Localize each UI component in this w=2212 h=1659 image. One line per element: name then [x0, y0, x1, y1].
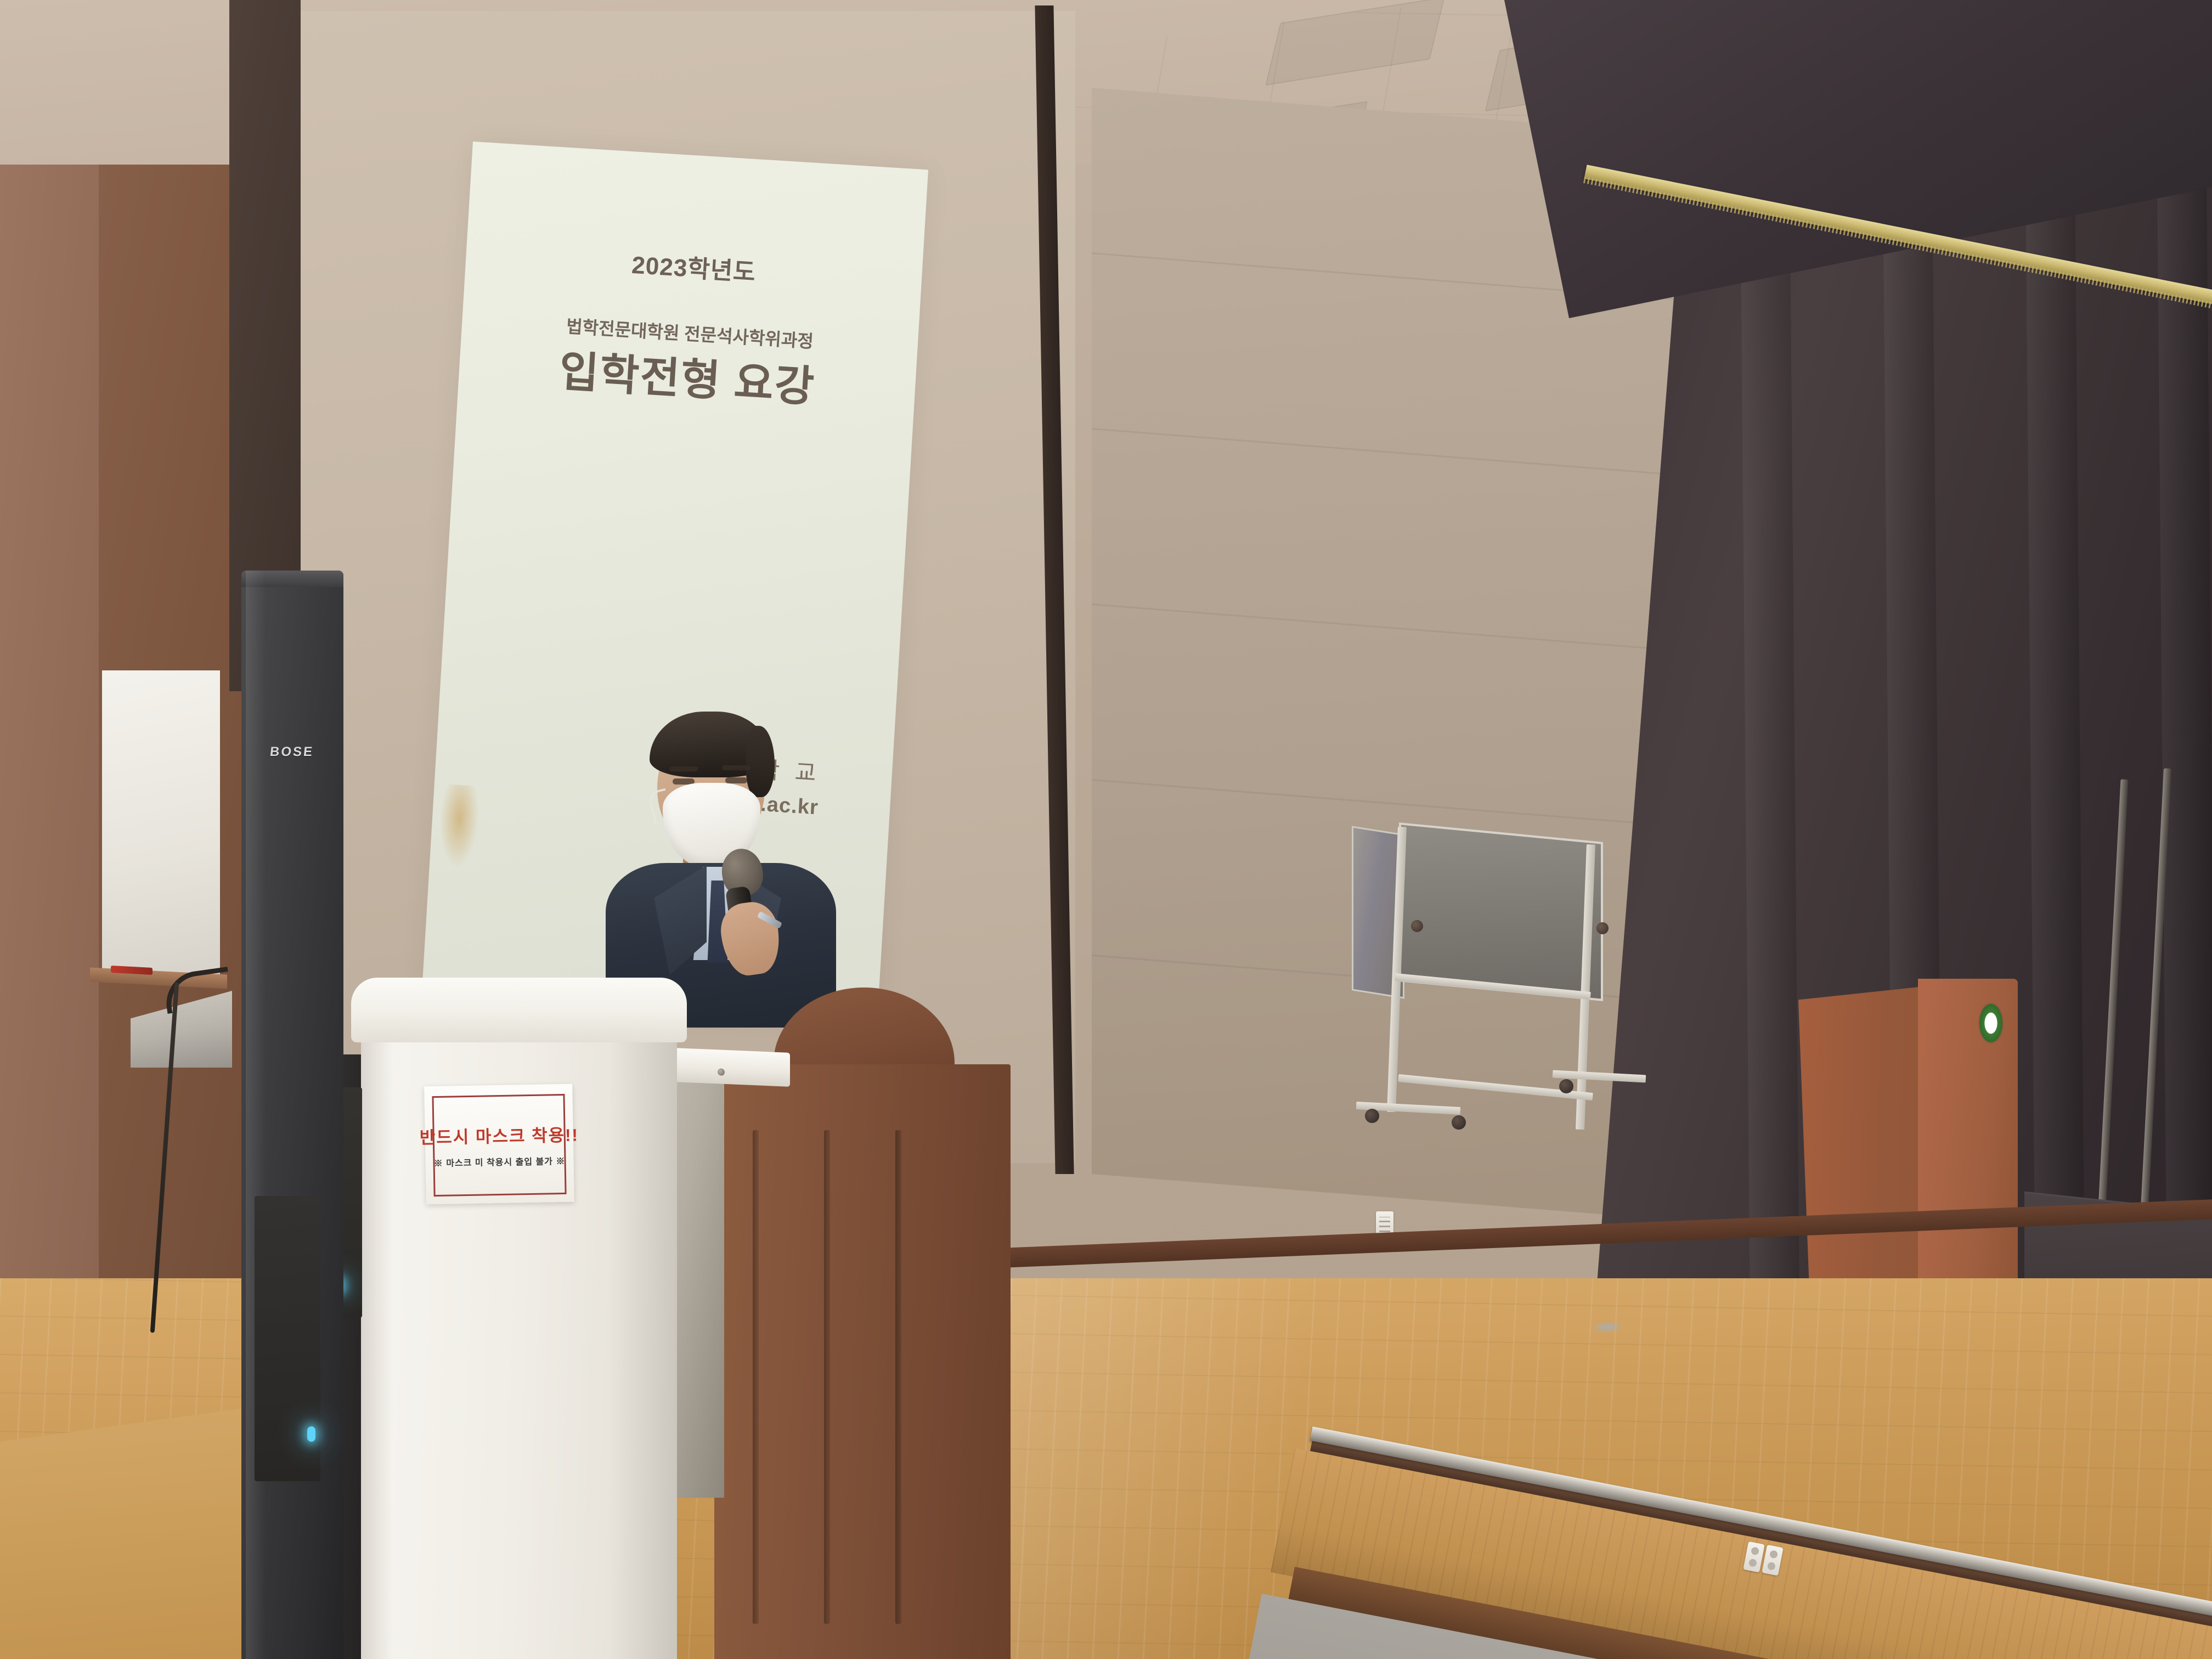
lectern-groove — [753, 1130, 759, 1624]
whiteboard-pivot-knob[interactable] — [1411, 920, 1423, 932]
center-lectern-body — [714, 1064, 1011, 1659]
presenter-eyebrow — [722, 765, 751, 770]
presenter-hair-side — [746, 726, 775, 797]
presenter — [592, 716, 845, 1023]
podium-shading-right — [609, 1030, 677, 1659]
mask-notice-sign: 반드시 마스크 착용!! ※ 마스크 미 착용시 출입 불가 ※ — [424, 1084, 574, 1205]
floor-scuff-mark — [1590, 1320, 1624, 1334]
university-emblem-icon — [1979, 1004, 2002, 1042]
presenter-eyebrow — [669, 766, 698, 771]
mask-notice-main-text: 반드시 마스크 착용!! — [419, 1121, 579, 1148]
podium-top-surface — [351, 978, 687, 1042]
presenter-eye — [725, 777, 747, 783]
slide-year-line: 2023학년도 — [465, 235, 923, 298]
whiteboard-caster — [1452, 1115, 1466, 1130]
shelf-screw — [718, 1068, 725, 1076]
lectern-groove — [895, 1130, 901, 1624]
whiteboard-surface — [1399, 822, 1603, 1001]
whiteboard-pivot-knob[interactable] — [1596, 922, 1609, 934]
center-lectern — [686, 988, 1031, 1659]
lectern-groove — [824, 1130, 830, 1624]
left-wall-whiteboard — [102, 670, 231, 1000]
left-whiteboard-surface — [102, 670, 220, 978]
speaker-tower-highlight — [246, 571, 266, 1659]
bose-logo: BOSE — [265, 745, 319, 759]
white-podium: 반드시 마스크 착용!! ※ 마스크 미 착용시 출입 불가 ※ — [351, 978, 702, 1659]
podium-shading-left — [361, 1030, 393, 1659]
bose-speaker-tower: BOSE — [241, 571, 343, 1659]
mask-notice-sub-text: ※ 마스크 미 착용시 출입 불가 ※ — [434, 1154, 566, 1169]
speaker-power-led-icon — [307, 1426, 315, 1442]
mask-notice-sign-border: 반드시 마스크 착용!! ※ 마스크 미 착용시 출입 불가 ※ — [432, 1094, 566, 1197]
whiteboard-caster — [1559, 1079, 1573, 1093]
whiteboard-caster — [1365, 1109, 1379, 1123]
auditorium-stage-photo: 2023학년도 법학전문대학원 전문석사학위과정 입학전형 요강 학 교 .ac… — [0, 0, 2212, 1659]
